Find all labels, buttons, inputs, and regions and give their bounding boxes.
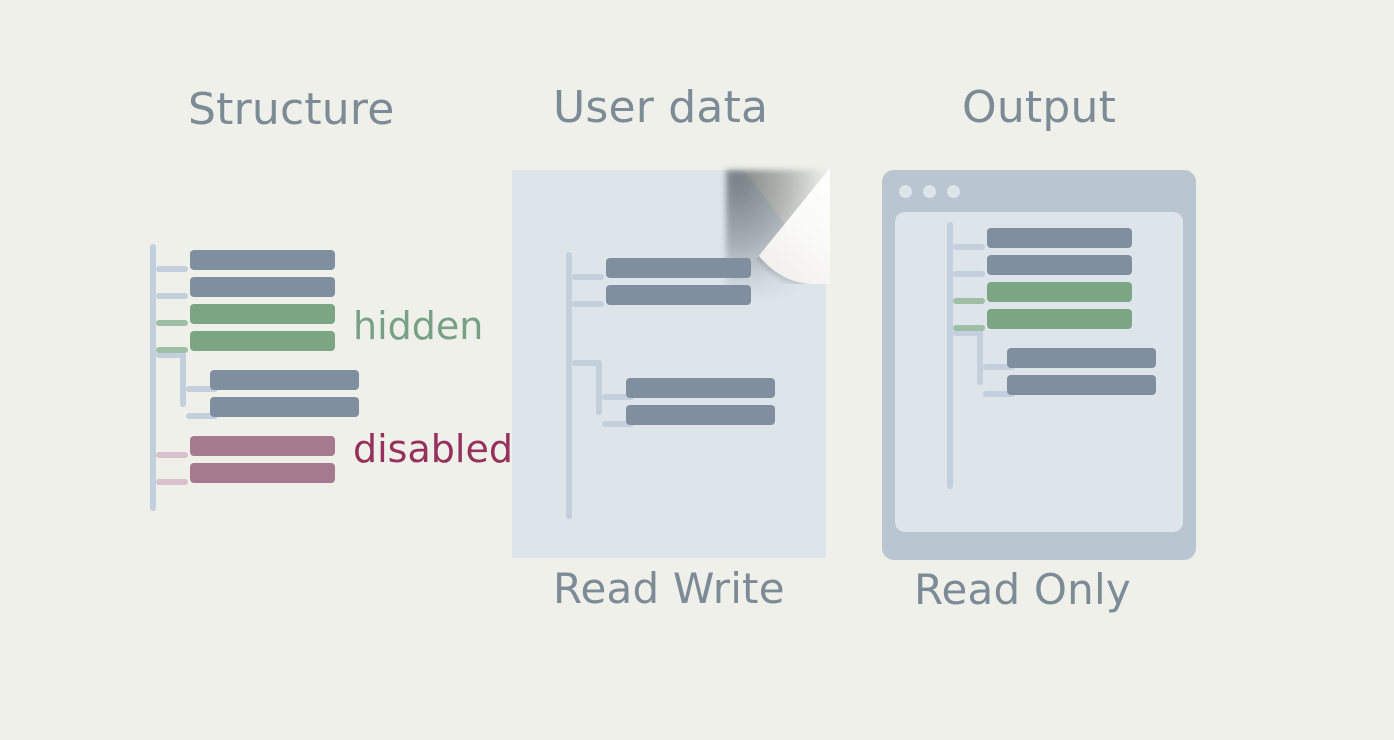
tree-item-bar-default <box>987 255 1132 275</box>
window-content-area <box>895 212 1183 532</box>
tree-trunk-line <box>947 222 953 489</box>
tree-item-bar-default <box>210 370 359 390</box>
tree-row-connector <box>953 271 985 277</box>
tree-item-bar-hidden <box>190 331 335 351</box>
tree-item-bar-default <box>606 285 751 305</box>
caption-read-only: Read Only <box>914 565 1131 614</box>
column-title-structure: Structure <box>188 84 394 135</box>
tree-row-connector <box>156 479 188 485</box>
window-dot-close-icon <box>899 185 912 198</box>
tree-item-bar-hidden <box>987 282 1132 302</box>
tree-row-connector <box>953 244 985 250</box>
window-dot-minimize-icon <box>923 185 936 198</box>
tree-item-bar-default <box>210 397 359 417</box>
tree-item-bar-default <box>190 277 335 297</box>
tree-item-bar-default <box>1007 348 1156 368</box>
caption-read-write: Read Write <box>553 564 785 613</box>
user-data-document <box>512 170 826 558</box>
disabled-annotation-label: disabled <box>353 427 513 471</box>
window-dot-maximize-icon <box>947 185 960 198</box>
column-title-output: Output <box>962 82 1116 133</box>
tree-item-bar-default <box>190 250 335 270</box>
tree-trunk-line <box>566 252 572 519</box>
tree-row-connector <box>953 325 985 331</box>
tree-branch-riser <box>180 352 186 407</box>
output-browser-window <box>882 170 1196 560</box>
tree-item-bar-disabled <box>190 436 335 456</box>
tree-row-connector <box>953 298 985 304</box>
window-titlebar <box>882 170 1196 212</box>
tree-item-bar-hidden <box>190 304 335 324</box>
tree-item-bar-disabled <box>190 463 335 483</box>
tree-trunk-line <box>150 244 156 511</box>
tree-item-bar-default <box>987 228 1132 248</box>
column-title-user-data: User data <box>553 82 768 133</box>
diagram-canvas: Structure hidden disabled User data Read… <box>0 0 1394 740</box>
tree-branch-riser <box>977 330 983 385</box>
tree-row-connector <box>156 293 188 299</box>
tree-item-bar-default <box>1007 375 1156 395</box>
tree-item-bar-hidden <box>987 309 1132 329</box>
tree-item-bar-default <box>626 378 775 398</box>
tree-row-connector <box>156 320 188 326</box>
tree-item-bar-default <box>606 258 751 278</box>
tree-item-bar-default <box>626 405 775 425</box>
hidden-annotation-label: hidden <box>353 304 483 348</box>
tree-row-connector <box>156 347 188 353</box>
tree-row-connector <box>156 452 188 458</box>
tree-row-connector <box>156 266 188 272</box>
tree-row-connector <box>572 301 604 307</box>
tree-branch-riser <box>596 360 602 415</box>
tree-row-connector <box>572 274 604 280</box>
